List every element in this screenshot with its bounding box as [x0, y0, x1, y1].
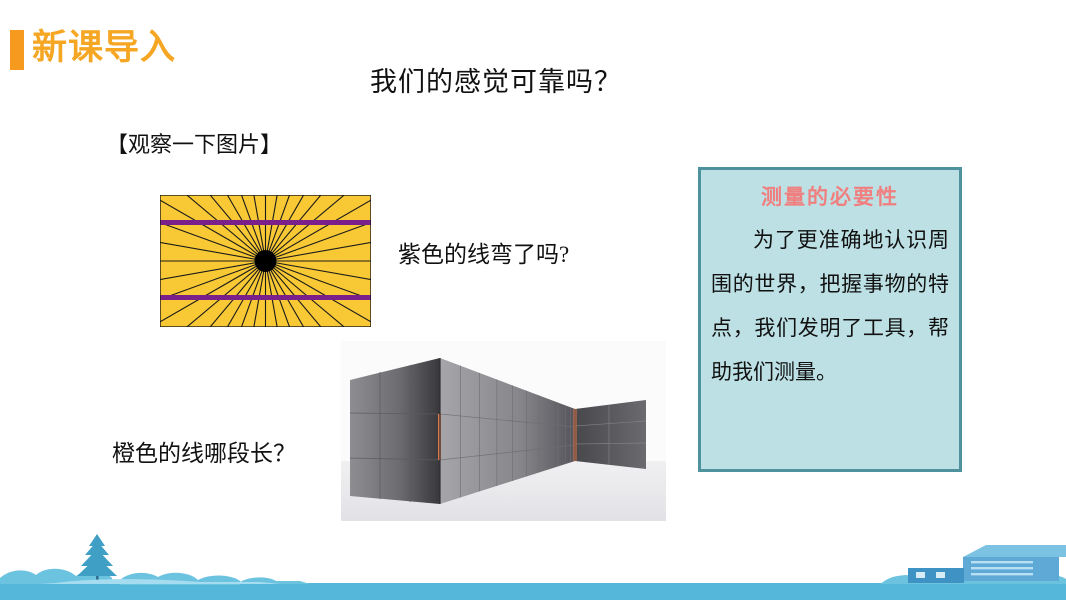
- instruction-observe: 【观察一下图片】: [106, 130, 282, 160]
- ponzo-corridor-illusion-image: [341, 341, 666, 521]
- info-box: 测量的必要性 为了更准确地认识周围的世界，把握事物的特点，我们发明了工具，帮助我…: [698, 167, 962, 472]
- question-main: 我们的感觉可靠吗？: [370, 56, 640, 109]
- question-orange-line: 橙色的线哪段长？: [112, 430, 342, 477]
- page-title: 新课导入: [32, 26, 176, 70]
- title-accent-bar: [10, 30, 24, 70]
- info-box-body: 为了更准确地认识周围的世界，把握事物的特点，我们发明了工具，帮助我们测量。: [711, 218, 949, 394]
- building-icon: [908, 545, 1066, 583]
- slide-canvas: 新课导入 我们的感觉可靠吗？ 【观察一下图片】 紫色的线弯了吗? 橙色的线哪段长…: [0, 0, 1066, 600]
- info-box-title: 测量的必要性: [711, 182, 949, 212]
- footer-decoration: [0, 520, 1066, 600]
- hering-illusion-image: [160, 195, 371, 327]
- question-purple-line: 紫色的线弯了吗?: [398, 238, 569, 272]
